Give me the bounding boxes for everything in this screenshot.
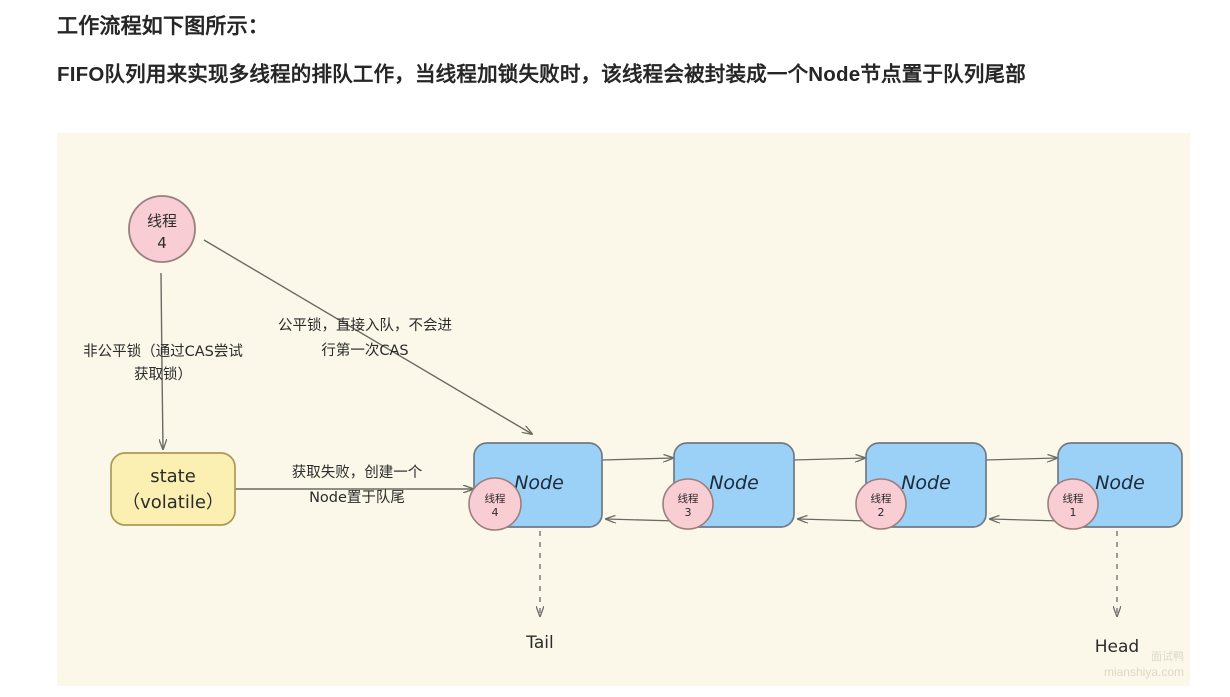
state-box-label-line2: （volatile）: [122, 492, 224, 513]
state-box-label-line1: state: [150, 466, 196, 487]
node-box-3[interactable]: Node 线程 2: [856, 443, 986, 529]
edge-label-create-node: 获取失败，创建一个 Node置于队尾: [292, 464, 423, 506]
node-box-4[interactable]: Node 线程 1: [1048, 443, 1182, 529]
page-subtitle: FIFO队列用来实现多线程的排队工作，当线程加锁失败时，该线程会被封装成一个No…: [57, 57, 1026, 87]
watermark-brand: 面试鸭: [1104, 651, 1184, 665]
tail-pointer-label: Tail: [525, 633, 553, 653]
node-box-2-label: Node: [709, 472, 759, 494]
thread-circle-2-label-line1: 线程: [871, 492, 892, 505]
diagram-canvas: state （volatile） Node 线程 4 Node 线程 3: [57, 133, 1190, 686]
aqs-queue-diagram: state （volatile） Node 线程 4 Node 线程 3: [57, 133, 1190, 686]
edge-label-create-node-line1: 获取失败，创建一个: [292, 464, 423, 481]
thread-source-label-line1: 线程: [147, 212, 177, 230]
watermark: 面试鸭 mianshiya.com: [1104, 651, 1184, 680]
thread-circle-4-label-line2: 4: [492, 506, 499, 519]
thread-circle-3-label-line2: 3: [685, 506, 692, 519]
thread-circle-2-label-line2: 2: [878, 506, 885, 519]
edge-label-fair: 公平锁，直接入队，不会进 行第一次CAS: [278, 317, 452, 359]
thread-source-label-line2: 4: [157, 234, 167, 252]
watermark-url: mianshiya.com: [1104, 665, 1184, 680]
node-box-2[interactable]: Node 线程 3: [663, 443, 794, 529]
edge-nonfair-lock: [161, 273, 163, 449]
edge-label-fair-line2: 行第一次CAS: [321, 341, 408, 359]
thread-circle-1-label-line2: 1: [1070, 506, 1077, 519]
thread-circle-4-label-line1: 线程: [485, 492, 506, 505]
thread-circle-1-label-line1: 线程: [1063, 492, 1085, 505]
edge-label-fair-line1: 公平锁，直接入队，不会进: [278, 317, 452, 334]
edge-label-nonfair: 非公平锁（通过CAS尝试 获取锁）: [83, 343, 243, 383]
thread-source-circle[interactable]: 线程 4: [129, 196, 195, 262]
edge-label-nonfair-line1: 非公平锁（通过CAS尝试: [83, 343, 243, 360]
edge-label-nonfair-line2: 获取锁）: [134, 366, 192, 383]
page-root: 工作流程如下图所示： FIFO队列用来实现多线程的排队工作，当线程加锁失败时，该…: [0, 0, 1230, 697]
state-box[interactable]: state （volatile）: [111, 453, 235, 525]
node-box-3-label: Node: [901, 472, 951, 494]
edge-fair-lock: [204, 240, 532, 434]
node-box-4-label: Node: [1095, 472, 1145, 494]
page-title: 工作流程如下图所示：: [57, 10, 269, 40]
thread-circle-3-label-line1: 线程: [678, 492, 699, 505]
node-box-1-label: Node: [514, 472, 564, 494]
edge-label-create-node-line2: Node置于队尾: [309, 489, 405, 506]
node-box-1[interactable]: Node 线程 4: [469, 443, 602, 530]
